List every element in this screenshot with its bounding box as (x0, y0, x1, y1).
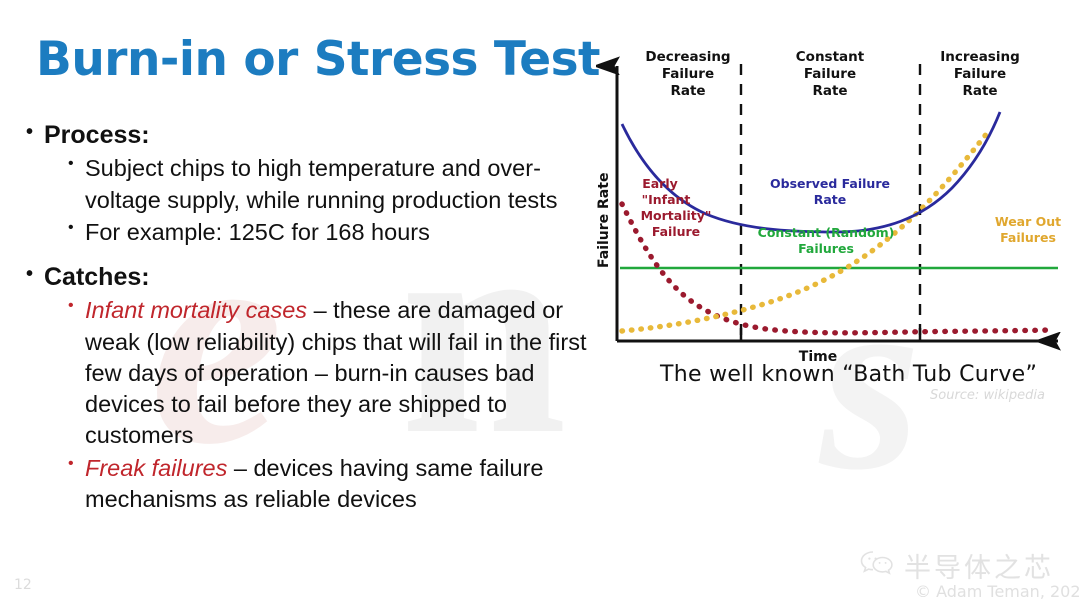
annotation-line: Failure (652, 224, 700, 239)
bullet-text: Subject chips to high temperature and ov… (85, 153, 610, 216)
bullet-catch-item-2: • Freak failures – devices having same f… (68, 453, 626, 516)
emphasis-infant-mortality: Infant mortality cases (85, 297, 307, 323)
region-label-line: Rate (812, 83, 847, 99)
annotation-line: Failures (798, 241, 854, 256)
region-label-constant: Constant Failure Rate (796, 49, 865, 99)
bullet-catch-item-1: • Infant mortality cases – these are dam… (68, 295, 626, 451)
wechat-watermark: 半导体之芯 (860, 546, 1054, 585)
bullet-text: For example: 125C for 168 hours (85, 217, 430, 248)
emphasis-freak-failures: Freak failures (85, 455, 227, 481)
annotation-line: Early (642, 176, 678, 191)
region-label-line: Increasing (940, 49, 1020, 65)
bullet-dot-icon: • (26, 120, 44, 145)
region-label-line: Failure (662, 66, 714, 82)
bullet-text: Infant mortality cases – these are damag… (85, 295, 610, 451)
bullet-list: • Process: • Subject chips to high tempe… (26, 118, 626, 515)
region-label-increasing: Increasing Failure Rate (940, 49, 1020, 99)
annotation-line: Wear Out (995, 214, 1061, 229)
page-number: 12 (14, 577, 32, 593)
region-label-line: Decreasing (645, 49, 730, 65)
wechat-account-name: 半导体之芯 (904, 546, 1054, 585)
region-label-line: Rate (670, 83, 705, 99)
bullet-process-item-1: • Subject chips to high temperature and … (68, 153, 626, 216)
region-label-line: Rate (962, 83, 997, 99)
bathtub-curve-chart: Decreasing Failure Rate Constant Failure… (596, 36, 1080, 366)
bullet-process: • Process: (26, 120, 626, 151)
bullet-process-label: Process: (44, 120, 150, 151)
region-label-decreasing: Decreasing Failure Rate (645, 49, 730, 99)
bullet-dot-icon: • (68, 153, 85, 174)
annotation-line: Rate (814, 192, 847, 207)
region-label-line: Failure (804, 66, 856, 82)
bullet-dot-icon: • (68, 453, 85, 474)
chart-source: Source: wikipedia (930, 388, 1045, 403)
bullet-dot-icon: • (26, 262, 44, 287)
bullet-dot-icon: • (68, 217, 85, 238)
annotation-line: "Infant (642, 192, 691, 207)
annotation-early-infant-mortality: Early "Infant Mortality" Failure (641, 176, 712, 239)
page-title: Burn-in or Stress Test (36, 32, 600, 87)
wechat-icon (860, 550, 896, 581)
region-label-line: Failure (954, 66, 1006, 82)
chart-caption: The well known “Bath Tub Curve” (660, 362, 1037, 387)
slide: Burn-in or Stress Test • Process: • Subj… (0, 0, 1080, 608)
bullet-text: Freak failures – devices having same fai… (85, 453, 610, 516)
annotation-line: Mortality" (641, 208, 712, 223)
copyright-notice: © Adam Teman, 2020 (915, 582, 1080, 601)
annotation-line: Failures (1000, 230, 1056, 245)
region-label-line: Constant (796, 49, 865, 65)
annotation-wear-out-failures: Wear Out Failures (995, 214, 1061, 245)
y-axis-label: Failure Rate (596, 173, 612, 268)
bullet-process-item-2: • For example: 125C for 168 hours (68, 217, 626, 248)
bullet-dot-icon: • (68, 295, 85, 316)
annotation-line: Observed Failure (770, 176, 890, 191)
bullet-catches-label: Catches: (44, 262, 150, 293)
annotation-observed-failure-rate: Observed Failure Rate (770, 176, 890, 207)
annotation-line: Constant (Random) (758, 225, 895, 240)
bullet-catches: • Catches: (26, 262, 626, 293)
